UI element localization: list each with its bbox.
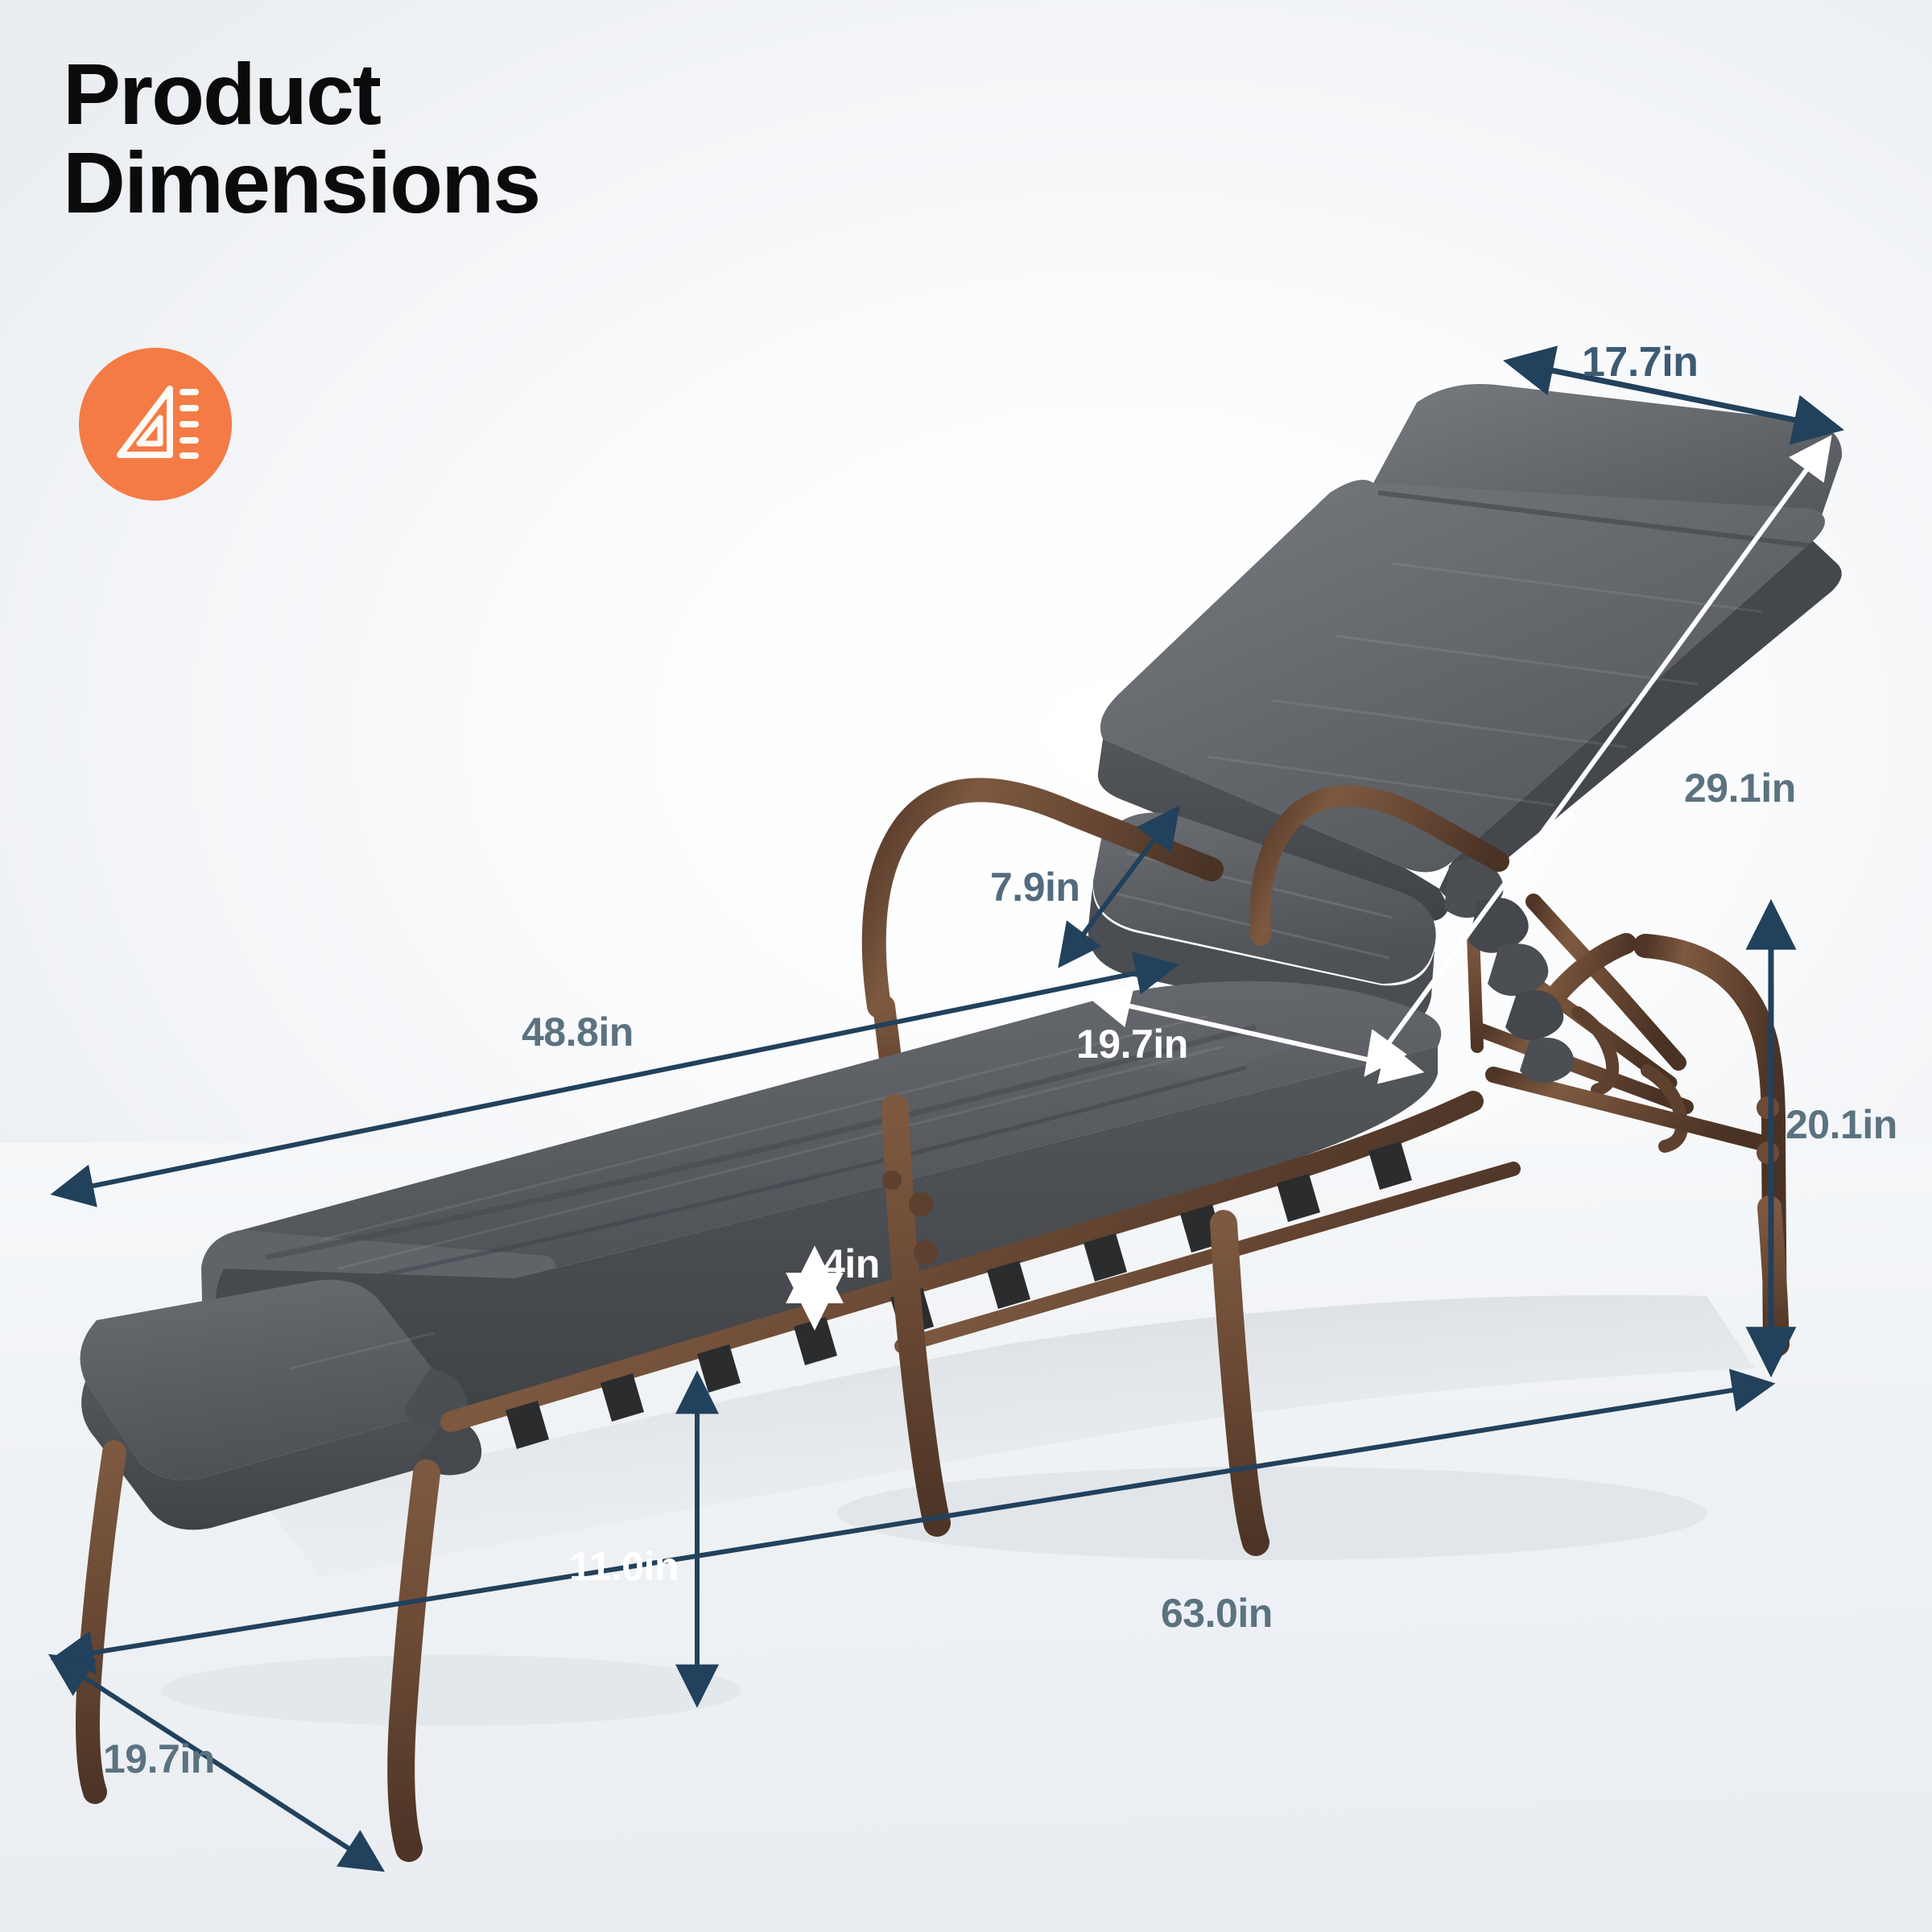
dim-label-seat-width: 19.7in — [1076, 1021, 1188, 1067]
cushion-bunching — [1444, 859, 1574, 1083]
dim-label-cushion-length: 48.8in — [522, 1009, 634, 1055]
dim-label-backrest-length: 29.1in — [1684, 765, 1796, 811]
dim-label-overall-length: 63.0in — [1161, 1590, 1273, 1637]
dim-label-backrest-width: 17.7in — [1582, 338, 1698, 386]
dim-label-armrest-height: 7.9in — [990, 864, 1080, 910]
chaise-lounge-illustration — [0, 0, 1932, 1932]
dim-label-cushion-thickness: 4in — [823, 1241, 880, 1287]
dim-label-overall-width: 19.7in — [103, 1736, 215, 1782]
infographic-canvas: Product Dimensions — [0, 0, 1932, 1932]
dim-label-front-height: 11.0in — [569, 1543, 679, 1590]
dim-label-rear-height: 20.1in — [1785, 1101, 1897, 1148]
